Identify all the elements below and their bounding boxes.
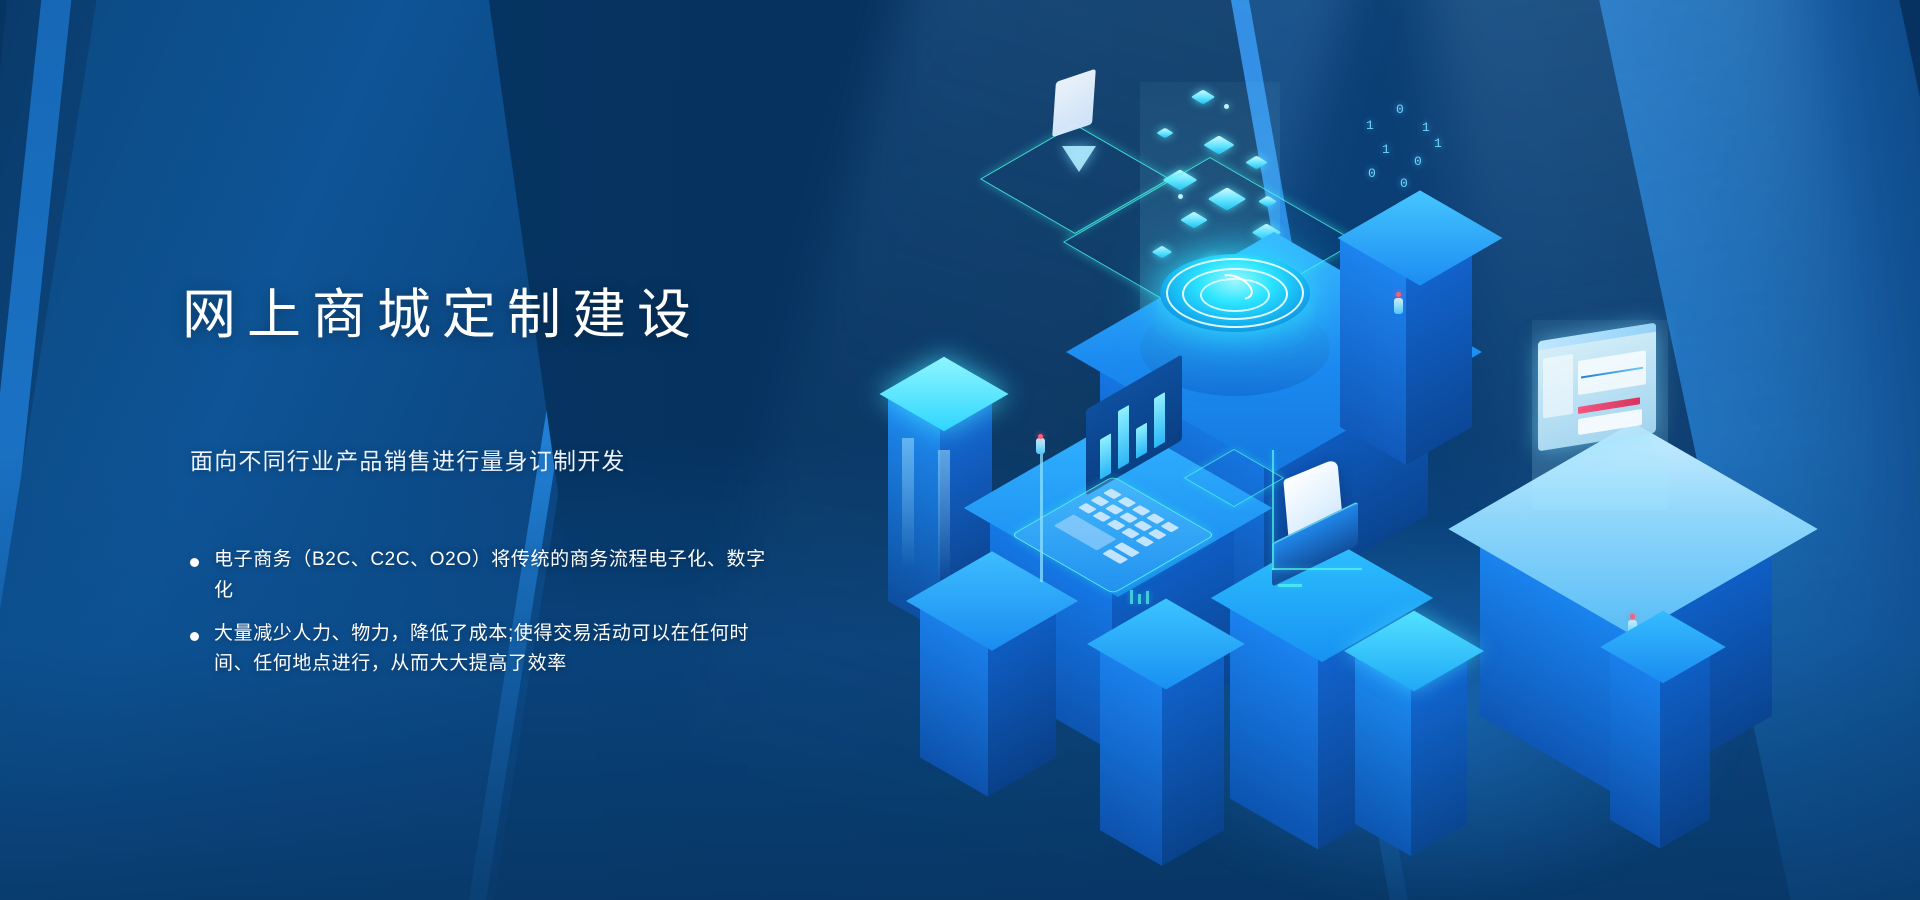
dashboard-window-icon	[1538, 323, 1656, 452]
small-pillar-face-left	[1100, 650, 1162, 866]
binary-digit: 1	[1382, 142, 1390, 157]
screen-bar	[1154, 392, 1165, 448]
list-item-text: 电子商务（B2C、C2C、O2O）将传统的商务流程电子化、数字化	[214, 545, 776, 607]
printer-slot	[1278, 584, 1302, 587]
antenna-pole	[1040, 450, 1043, 582]
antenna-cap-icon	[1036, 438, 1045, 454]
small-pillar-face-left	[1610, 650, 1660, 849]
screen-bar	[1100, 433, 1111, 479]
neon-tick	[1130, 590, 1133, 604]
indicator-light-icon	[1394, 298, 1403, 314]
binary-digit: 0	[1400, 176, 1408, 191]
neon-line-horizontal	[1272, 568, 1362, 570]
screen-bar	[1118, 405, 1129, 469]
screen-bar	[1136, 422, 1147, 458]
page-subtitle: 面向不同行业产品销售进行量身订制开发	[190, 447, 626, 477]
list-item: 大量减少人力、物力，降低了成本;使得交易活动可以在任何时间、任何地点进行，从而大…	[186, 619, 776, 681]
pillar-highlight	[938, 450, 950, 580]
binary-digit: 1	[1366, 118, 1374, 133]
binary-digit: 0	[1414, 154, 1422, 169]
feature-list: 电子商务（B2C、C2C、O2O）将传统的商务流程电子化、数字化 大量减少人力、…	[186, 545, 776, 692]
isometric-illustration: 1 0 1 1 0 0 1 0	[1010, 150, 1920, 850]
binary-digit: 0	[1396, 102, 1404, 117]
bullet-dot-icon	[190, 632, 199, 641]
pillar-highlight	[902, 438, 914, 568]
download-arrow-icon	[1062, 146, 1096, 172]
page-title: 网上商城定制建设	[182, 288, 702, 342]
neon-line-vertical	[1272, 450, 1274, 570]
neon-tick	[1146, 591, 1149, 604]
antenna-dot-icon	[1038, 434, 1043, 439]
binary-digit: 1	[1434, 136, 1442, 151]
list-item-text: 大量减少人力、物力，降低了成本;使得交易活动可以在任何时间、任何地点进行，从而大…	[214, 619, 776, 681]
window-content-row	[1578, 409, 1642, 435]
list-item: 电子商务（B2C、C2C、O2O）将传统的商务流程电子化、数字化	[186, 545, 776, 607]
platform-indicator-dot	[1630, 614, 1635, 619]
hero-banner: 1 0 1 1 0 0 1 0	[0, 0, 1920, 900]
neon-tick	[1138, 594, 1141, 604]
bullet-dot-icon	[190, 558, 199, 567]
spark-icon	[1224, 104, 1229, 109]
window-sidebar	[1543, 354, 1573, 419]
hero-content: 网上商城定制建设 面向不同行业产品销售进行量身订制开发 电子商务（B2C、C2C…	[0, 0, 900, 900]
binary-digit: 0	[1368, 166, 1376, 181]
indicator-dot-icon	[1396, 292, 1401, 297]
binary-digit: 1	[1422, 120, 1430, 135]
